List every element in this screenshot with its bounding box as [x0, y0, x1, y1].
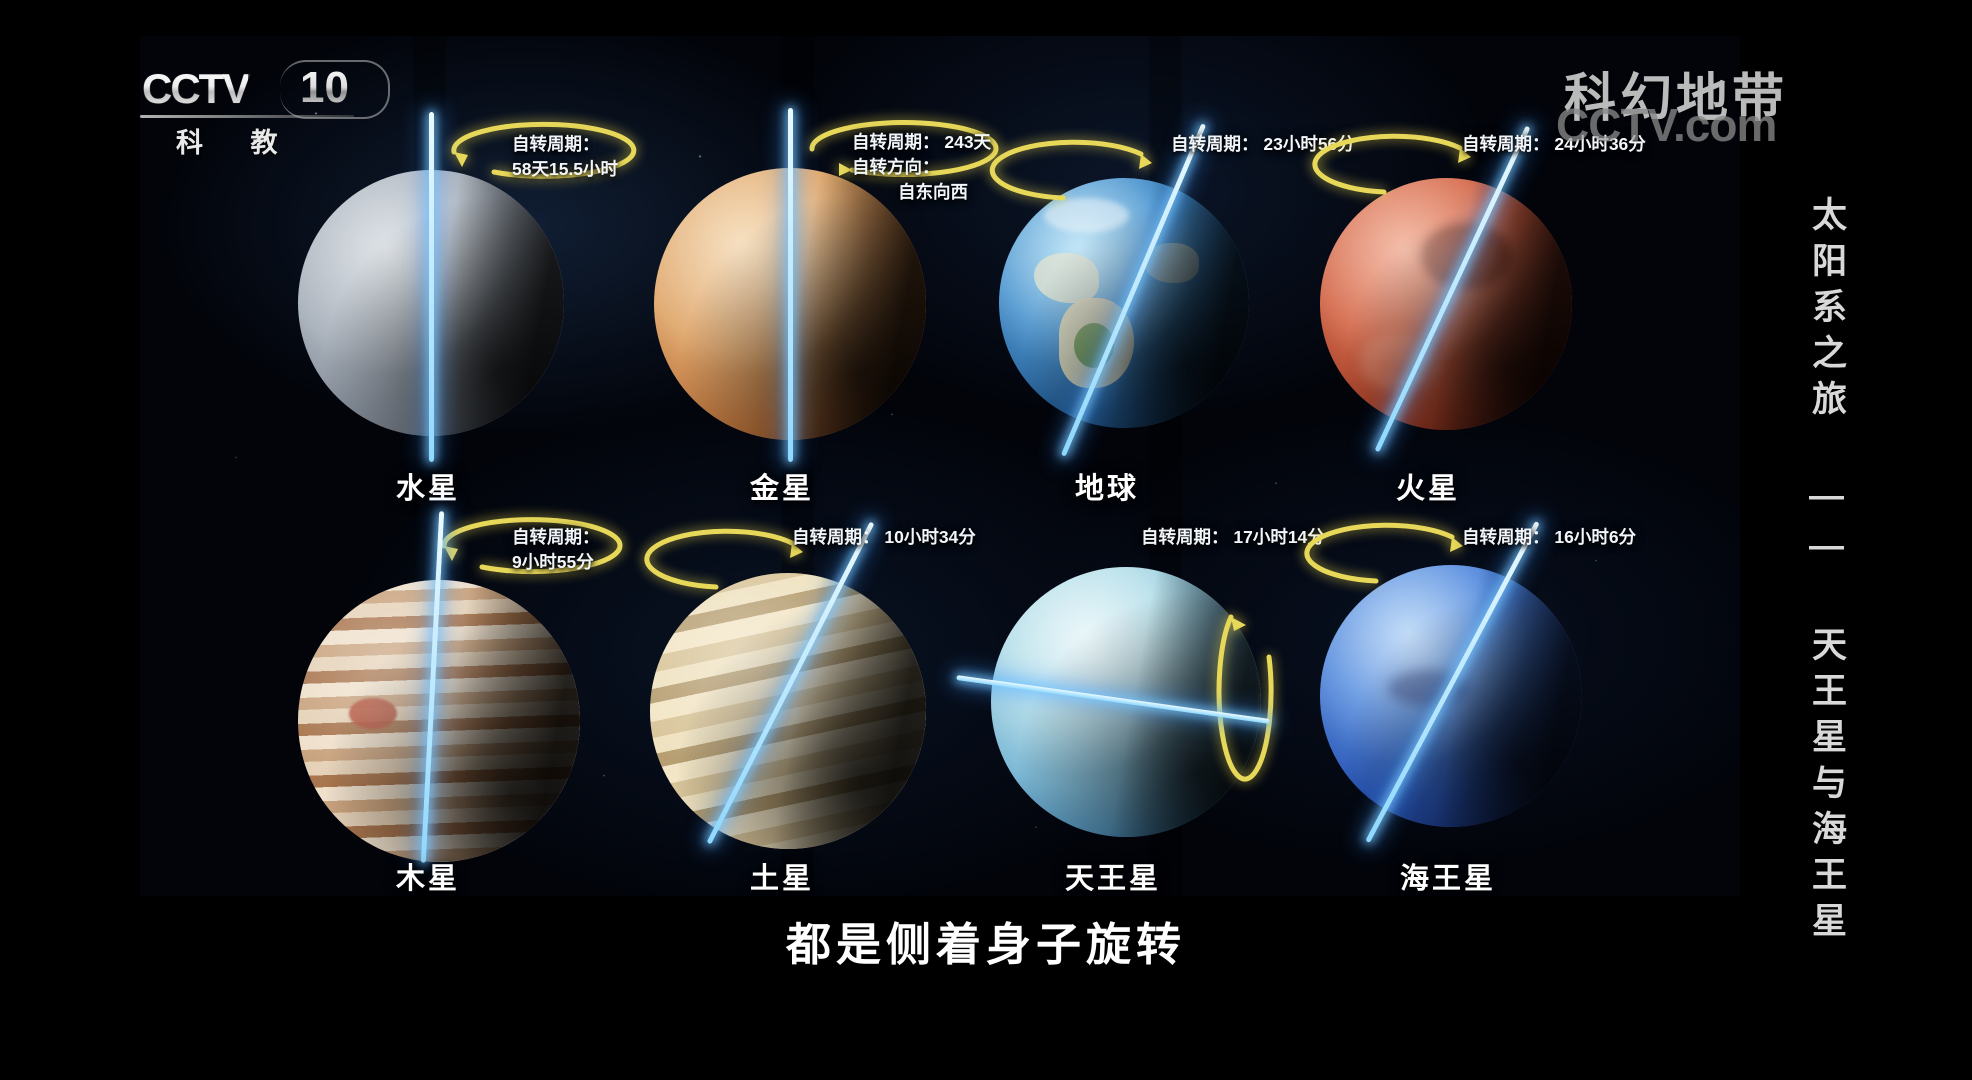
- logo-underline: [140, 115, 354, 118]
- channel-subname: 科 教: [176, 121, 298, 160]
- planet-name-jupiter: 木星: [396, 855, 460, 897]
- planet-cell-jupiter[interactable]: 自转周期： 9小时55分 木星: [298, 505, 598, 865]
- planet-cell-neptune[interactable]: 自转周期： 16小时6分 海王星: [1300, 505, 1600, 865]
- logo-plate: CCTV 10: [140, 63, 390, 115]
- planet-cell-earth[interactable]: 自转周期： 23小时56分 地球: [985, 120, 1285, 480]
- planet-info-mercury: 自转周期： 58天15.5小时: [512, 132, 618, 182]
- planet-name-mercury: 水星: [396, 465, 460, 507]
- planet-name-saturn: 土星: [750, 855, 814, 897]
- planet-info-uranus: 自转周期： 17小时14分: [1141, 525, 1325, 550]
- rotation-axis-mercury: [429, 112, 434, 462]
- planet-name-earth: 地球: [1075, 465, 1139, 507]
- video-frame: 自转周期： 58天15.5小时 水星 自转周期： 243天 自转方向： 自东向西…: [0, 0, 1972, 1080]
- planet-name-mars: 火星: [1396, 465, 1460, 507]
- channel-number: 10: [300, 63, 349, 113]
- planet-name-uranus: 天王星: [1065, 855, 1161, 897]
- rotation-axis-venus: [788, 108, 793, 462]
- program-watermark: 科幻地带 CCTV.com: [1556, 56, 1926, 166]
- planet-globe-neptune: [1320, 565, 1582, 827]
- planet-cell-mars[interactable]: 自转周期： 24小时36分 火星: [1300, 120, 1600, 480]
- planet-name-venus: 金星: [750, 465, 814, 507]
- planet-globe-saturn: [650, 573, 926, 849]
- planet-info-neptune: 自转周期： 16小时6分: [1462, 525, 1636, 550]
- planet-info-saturn: 自转周期： 10小时34分: [792, 525, 976, 550]
- planet-cell-uranus[interactable]: 自转周期： 17小时14分 天王星: [975, 505, 1295, 865]
- channel-logo: CCTV 10 科 教: [140, 63, 390, 148]
- planet-info-jupiter: 自转周期： 9小时55分: [512, 525, 600, 575]
- planet-globe-jupiter: [298, 580, 580, 862]
- vertical-episode-title: 太阳系之旅 —— 天王星与海王星: [1790, 196, 1852, 948]
- cctv-dotcom-watermark: CCTV.com: [1556, 98, 1776, 152]
- planet-cell-mercury[interactable]: 自转周期： 58天15.5小时 水星: [298, 120, 598, 480]
- cctv-wordmark: CCTV: [142, 65, 248, 113]
- planet-info-venus: 自转周期： 243天 自转方向： 自东向西: [852, 130, 991, 205]
- planet-name-neptune: 海王星: [1400, 855, 1496, 897]
- planet-cell-venus[interactable]: 自转周期： 243天 自转方向： 自东向西 金星: [640, 120, 940, 480]
- subtitle-caption: 都是侧着身子旋转: [0, 908, 1972, 973]
- planet-cell-saturn[interactable]: 自转周期： 10小时34分 土星: [640, 505, 940, 865]
